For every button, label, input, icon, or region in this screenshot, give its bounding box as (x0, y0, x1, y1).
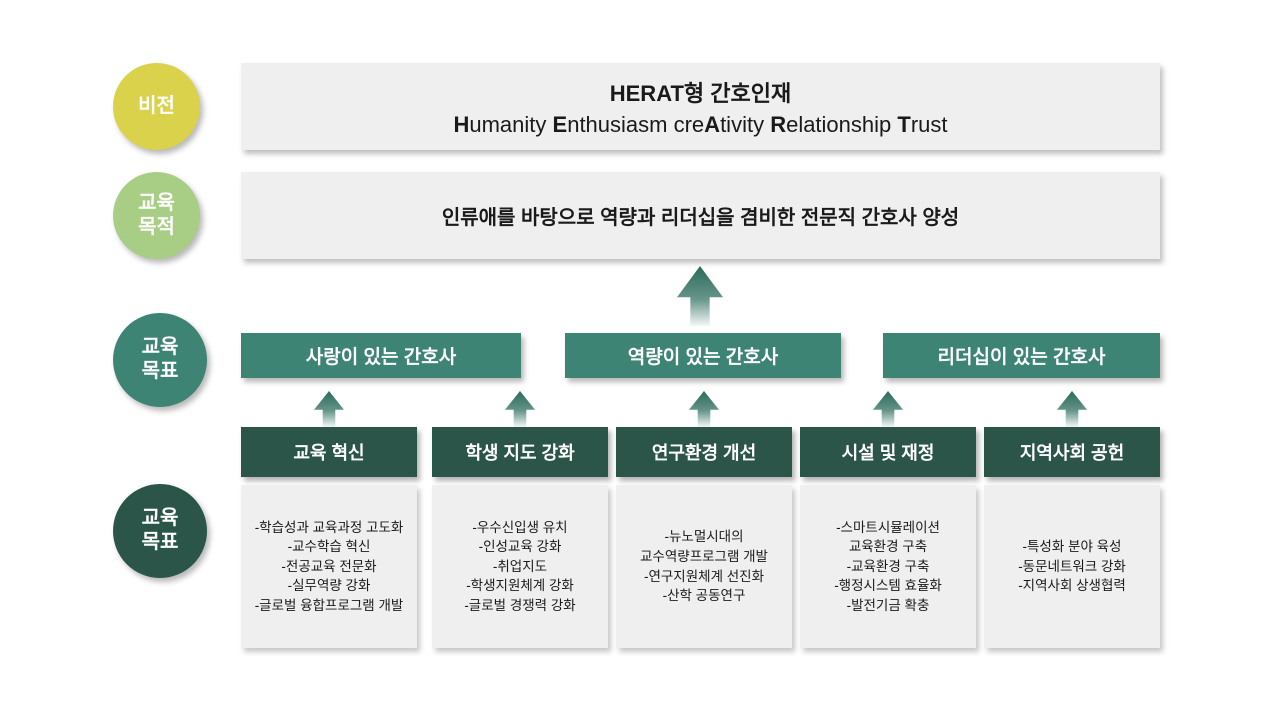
strategy-column-2-body: -우수신입생 유치 -인성교육 강화 -취업지도 -학생지원체계 강화 -글로벌… (432, 485, 608, 648)
strategy-column-2-header: 학생 지도 강화 (432, 427, 608, 477)
strategy-column-1: 교육 혁신-학습성과 교육과정 고도화 -교수학습 혁신 -전공교육 전문화 -… (241, 427, 417, 648)
circle-vision: 비전 (113, 63, 200, 150)
goal-bar-1: 사랑이 있는 간호사 (241, 333, 521, 378)
vision-title: HERAT형 간호인재 (453, 76, 947, 108)
strategy-column-items: -스마트시뮬레이션 교육환경 구축 -교육환경 구축 -행정시스템 효율화 -발… (834, 518, 942, 616)
circle-vision-label: 비전 (138, 95, 175, 119)
strategy-column-4-body: -스마트시뮬레이션 교육환경 구축 -교육환경 구축 -행정시스템 효율화 -발… (800, 485, 976, 648)
up-arrow-column-1-icon (314, 391, 344, 427)
circle-education-purpose: 교육 목적 (113, 172, 200, 259)
strategy-column-header-label: 시설 및 재정 (842, 439, 935, 465)
strategy-column-3-header: 연구환경 개선 (616, 427, 792, 477)
goal-bar-label: 리더십이 있는 간호사 (938, 342, 1106, 369)
strategy-column-items: -우수신입생 유치 -인성교육 강화 -취업지도 -학생지원체계 강화 -글로벌… (464, 518, 575, 616)
circle-education-strategy: 교육 목표 (113, 484, 207, 578)
strategy-column-4: 시설 및 재정-스마트시뮬레이션 교육환경 구축 -교육환경 구축 -행정시스템… (800, 427, 976, 648)
circle-education-purpose-label: 교육 목적 (138, 192, 175, 239)
diagram-canvas: 비전 교육 목적 교육 목표 교육 목표 HERAT형 간호인재 Humanit… (0, 0, 1280, 720)
strategy-column-header-label: 연구환경 개선 (652, 439, 756, 465)
circle-education-goal: 교육 목표 (113, 313, 207, 407)
strategy-column-3: 연구환경 개선-뉴노멀시대의 교수역량프로그램 개발 -연구지원체계 선진화 -… (616, 427, 792, 648)
strategy-column-header-label: 지역사회 공헌 (1020, 439, 1124, 465)
strategy-column-items: -특성화 분야 육성 -동문네트워크 강화 -지역사회 상생협력 (1018, 537, 1126, 596)
strategy-column-3-body: -뉴노멀시대의 교수역량프로그램 개발 -연구지원체계 선진화 -산학 공동연구 (616, 485, 792, 648)
strategy-column-4-header: 시설 및 재정 (800, 427, 976, 477)
goal-bar-2: 역량이 있는 간호사 (565, 333, 841, 378)
strategy-column-2: 학생 지도 강화-우수신입생 유치 -인성교육 강화 -취업지도 -학생지원체계… (432, 427, 608, 648)
goal-bar-3: 리더십이 있는 간호사 (883, 333, 1160, 378)
up-arrow-column-3-icon (689, 391, 719, 427)
goal-bar-label: 역량이 있는 간호사 (628, 342, 778, 369)
strategy-column-items: -학습성과 교육과정 고도화 -교수학습 혁신 -전공교육 전문화 -실무역량 … (255, 518, 404, 616)
strategy-column-5-header: 지역사회 공헌 (984, 427, 1160, 477)
strategy-column-1-body: -학습성과 교육과정 고도화 -교수학습 혁신 -전공교육 전문화 -실무역량 … (241, 485, 417, 648)
strategy-column-header-label: 학생 지도 강화 (465, 439, 574, 465)
goal-bar-label: 사랑이 있는 간호사 (306, 342, 456, 369)
vision-acronym: Humanity Enthusiasm creAtivity Relations… (453, 112, 947, 138)
strategy-column-1-header: 교육 혁신 (241, 427, 417, 477)
circle-education-strategy-label: 교육 목표 (142, 507, 179, 554)
up-arrow-column-2-icon (505, 391, 535, 427)
up-arrow-column-5-icon (1057, 391, 1087, 427)
strategy-column-items: -뉴노멀시대의 교수역량프로그램 개발 -연구지원체계 선진화 -산학 공동연구 (640, 527, 768, 605)
education-purpose-banner: 인류애를 바탕으로 역량과 리더십을 겸비한 전문직 간호사 양성 (241, 172, 1160, 259)
strategy-column-5-body: -특성화 분야 육성 -동문네트워크 강화 -지역사회 상생협력 (984, 485, 1160, 648)
circle-education-goal-label: 교육 목표 (142, 336, 179, 383)
vision-banner: HERAT형 간호인재 Humanity Enthusiasm creAtivi… (241, 63, 1160, 150)
education-purpose-text: 인류애를 바탕으로 역량과 리더십을 겸비한 전문직 간호사 양성 (442, 201, 959, 230)
strategy-column-header-label: 교육 혁신 (293, 439, 364, 465)
strategy-column-5: 지역사회 공헌-특성화 분야 육성 -동문네트워크 강화 -지역사회 상생협력 (984, 427, 1160, 648)
up-arrow-to-purpose-icon (677, 266, 723, 326)
up-arrow-column-4-icon (873, 391, 903, 427)
